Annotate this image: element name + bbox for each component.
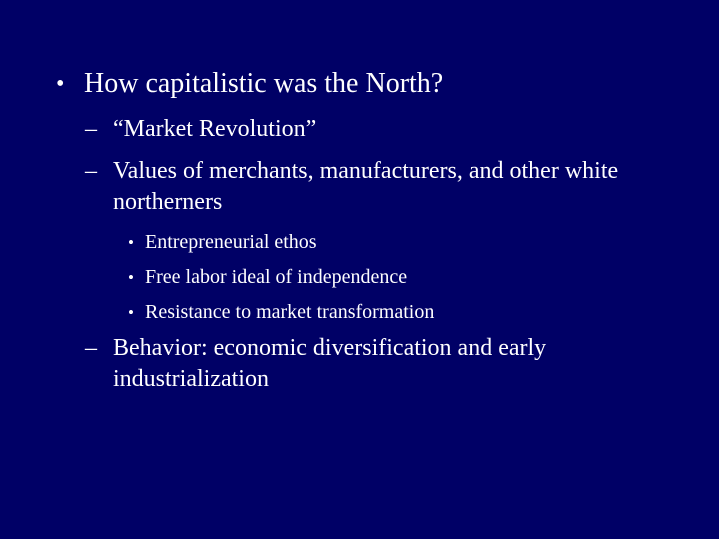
bullet-dash-icon: – [85,114,113,145]
outline-item-level3-entrepreneurial-ethos[interactable]: • Entrepreneurial ethos [128,229,648,256]
outline-item-level3-resistance-text: Resistance to market transformation [145,299,648,326]
outline-item-level3-entrepreneurial-ethos-text: Entrepreneurial ethos [145,229,648,256]
outline-item-level3-free-labor[interactable]: • Free labor ideal of independence [128,264,648,291]
outline-item-level3-resistance[interactable]: • Resistance to market transformation [128,299,648,326]
outline-item-level1-text: How capitalistic was the North? [84,66,686,102]
bullet-dot-icon: • [56,66,84,102]
outline-item-level2-market-revolution-text: “Market Revolution” [113,114,645,145]
outline-item-level2-values-text: Values of merchants, manufacturers, and … [113,156,645,218]
outline-item-level2-behavior[interactable]: – Behavior: economic diversification and… [85,333,645,395]
bullet-dot-icon: • [128,299,145,326]
slide-content-body: • How capitalistic was the North? – “Mar… [0,0,719,539]
outline-item-level2-values[interactable]: – Values of merchants, manufacturers, an… [85,156,645,218]
bullet-dash-icon: – [85,333,113,364]
outline-item-level3-free-labor-text: Free labor ideal of independence [145,264,648,291]
outline-item-level1[interactable]: • How capitalistic was the North? [56,66,686,102]
outline-item-level2-market-revolution[interactable]: – “Market Revolution” [85,114,645,145]
presentation-slide: • How capitalistic was the North? – “Mar… [0,0,719,539]
bullet-dot-icon: • [128,229,145,256]
outline-item-level2-behavior-text: Behavior: economic diversification and e… [113,333,645,395]
bullet-dot-icon: • [128,264,145,291]
bullet-dash-icon: – [85,156,113,187]
